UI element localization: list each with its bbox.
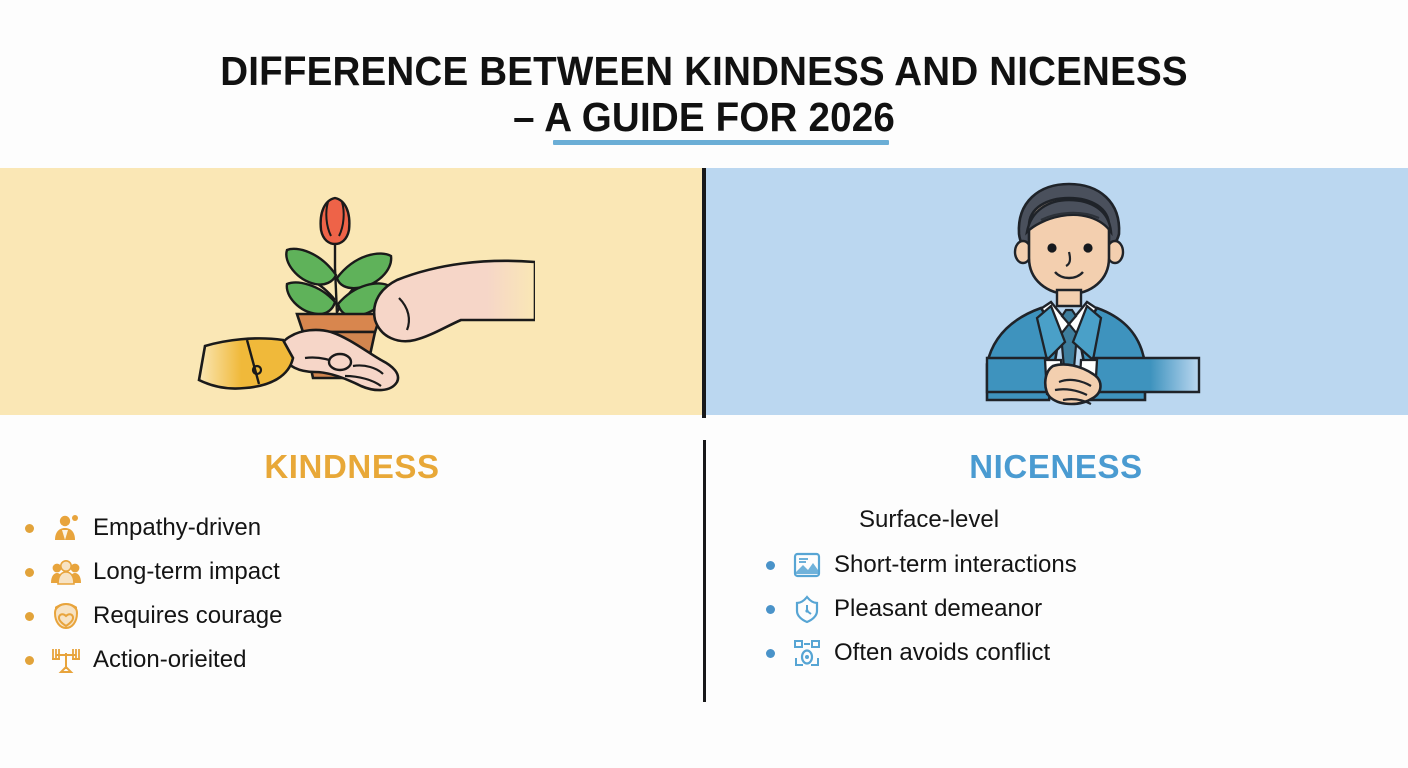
title-line-2: – A GUIDE FOR 2026 xyxy=(513,94,895,140)
hands-holding-potted-flower-icon xyxy=(185,180,535,415)
people-group-icon xyxy=(51,557,81,587)
list-item-label: Long-term impact xyxy=(93,558,280,586)
list-item[interactable]: Requires courage xyxy=(25,594,704,638)
list-item[interactable]: Often avoids conflict xyxy=(766,631,1408,675)
bullet-dot xyxy=(766,649,775,658)
list-item-label: Empathy-driven xyxy=(93,514,261,542)
list-item-label: Requires courage xyxy=(93,602,282,630)
list-item-label: Pleasant demeanor xyxy=(834,595,1042,623)
bullet-dot xyxy=(25,656,34,665)
list-item[interactable]: Pleasant demeanor xyxy=(766,587,1408,631)
title-line-1: DIFFERENCE BETWEEN KINDNESS AND NICENESS xyxy=(42,48,1366,94)
kindness-heading: KINDNESS xyxy=(0,448,704,486)
panel-niceness-illustration xyxy=(703,168,1408,415)
niceness-list: Short-term interactions Pleasant demeano… xyxy=(704,543,1408,675)
column-niceness: NICENESS Surface-level Short-term intera… xyxy=(704,415,1408,768)
bullet-dot xyxy=(25,612,34,621)
person-shield-icon xyxy=(51,601,81,631)
scales-balance-icon xyxy=(51,645,81,675)
bullet-dot xyxy=(25,568,34,577)
list-item[interactable]: Short-term interactions xyxy=(766,543,1408,587)
list-item[interactable]: Empathy-driven xyxy=(25,506,704,550)
businessman-handshake-icon xyxy=(941,176,1211,415)
list-item[interactable]: Long-term impact xyxy=(25,550,704,594)
bullet-dot xyxy=(766,561,775,570)
list-item[interactable]: Action-orieited xyxy=(25,638,704,682)
bullet-dot xyxy=(25,524,34,533)
page-title: DIFFERENCE BETWEEN KINDNESS AND NICENESS… xyxy=(0,48,1408,140)
shield-clock-icon xyxy=(792,594,822,624)
panel-kindness-illustration xyxy=(0,168,703,415)
list-item-label: Action-orieited xyxy=(93,646,246,674)
list-item-label: Often avoids conflict xyxy=(834,639,1050,667)
person-heart-icon xyxy=(51,513,81,543)
niceness-lead-text: Surface-level xyxy=(704,506,1408,534)
list-item-label: Short-term interactions xyxy=(834,551,1077,579)
niceness-heading: NICENESS xyxy=(704,448,1408,486)
kindness-list: Empathy-driven Long-term impact xyxy=(0,506,704,682)
title-underline-accent xyxy=(553,140,889,145)
scan-face-icon xyxy=(792,638,822,668)
comparison-columns: KINDNESS Empathy-driven xyxy=(0,415,1408,768)
center-divider-top xyxy=(702,168,706,418)
column-kindness: KINDNESS Empathy-driven xyxy=(0,415,704,768)
bullet-dot xyxy=(766,605,775,614)
image-frame-icon xyxy=(792,550,822,580)
